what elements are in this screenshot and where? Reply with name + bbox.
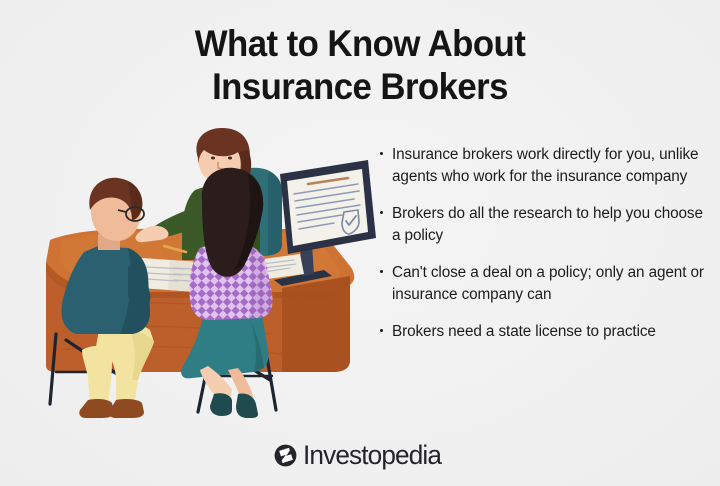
client-woman-shoe-right bbox=[236, 393, 258, 418]
bullet-dot-icon bbox=[380, 211, 383, 214]
list-item: Brokers need a state license to practice bbox=[380, 321, 710, 343]
list-item: Brokers do all the research to help you … bbox=[380, 203, 710, 246]
list-item-text: Brokers need a state license to practice bbox=[392, 323, 656, 340]
investopedia-mark-icon bbox=[274, 444, 297, 467]
bullet-dot-icon bbox=[380, 152, 383, 155]
client-man-shoe-right bbox=[109, 399, 144, 418]
investopedia-logo: Investopedia bbox=[0, 442, 720, 469]
list-item: Can't close a deal on a policy; only an … bbox=[380, 262, 710, 305]
title-line-2: Insurance Brokers bbox=[22, 65, 699, 108]
client-man-pants-2 bbox=[82, 346, 112, 404]
illustration-broker-meeting bbox=[32, 128, 382, 418]
list-item-text: Brokers do all the research to help you … bbox=[392, 205, 703, 244]
investopedia-wordmark: Investopedia bbox=[303, 442, 441, 469]
bullet-dot-icon bbox=[380, 329, 383, 332]
list-item-text: Can't close a deal on a policy; only an … bbox=[392, 264, 704, 303]
page-title: What to Know About Insurance Brokers bbox=[0, 22, 720, 108]
office-chair-shade bbox=[268, 172, 282, 255]
client-man-shoe-left bbox=[79, 399, 114, 418]
list-item: Insurance brokers work directly for you,… bbox=[380, 144, 710, 187]
list-item-text: Insurance brokers work directly for you,… bbox=[392, 146, 698, 185]
infographic-canvas: What to Know About Insurance Brokers bbox=[0, 0, 720, 486]
bullet-dot-icon bbox=[380, 270, 383, 273]
title-line-1: What to Know About bbox=[22, 22, 699, 65]
key-takeaways-list: Insurance brokers work directly for you,… bbox=[380, 144, 710, 343]
client-woman-shoe-left bbox=[210, 393, 232, 416]
